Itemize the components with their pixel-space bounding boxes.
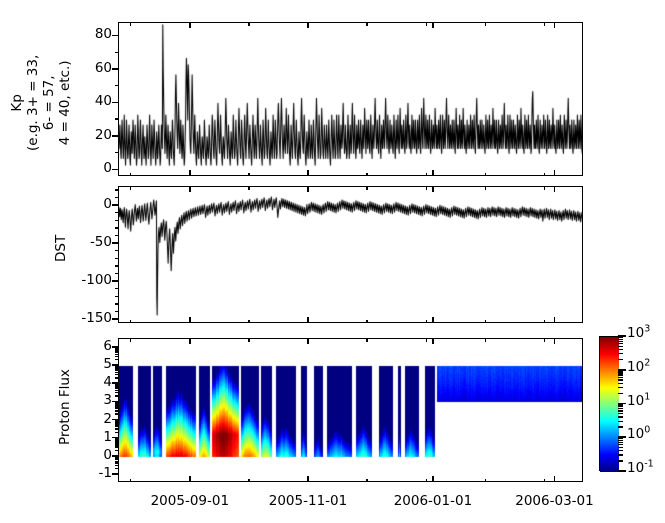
x-axis-minor-tick-mark	[426, 173, 427, 177]
proton-y-minor-tick-mark	[115, 392, 119, 393]
dst-y-minor-tick-mark	[115, 189, 119, 190]
x-axis-minor-tick-mark	[248, 479, 249, 483]
dst-y-minor-tick-mark	[115, 220, 119, 221]
proton-y-minor-tick-mark	[115, 465, 119, 466]
colorbar-minor-tick-mark	[618, 440, 623, 441]
proton-y-minor-tick-mark	[115, 446, 119, 447]
kp-y-tick-label: 40	[74, 95, 112, 109]
proton-y-minor-tick-mark	[115, 356, 119, 357]
proton-y-minor-tick-mark	[115, 428, 119, 429]
colorbar-minor-tick-mark	[618, 426, 623, 427]
colorbar-minor-tick-mark	[618, 416, 623, 417]
x-axis-minor-tick-mark	[248, 186, 249, 190]
colorbar-minor-tick-mark	[618, 410, 623, 411]
x-axis-tick-mark	[432, 317, 434, 323]
kp-y-tick-label: 0	[74, 162, 112, 176]
proton-y-minor-tick-mark	[115, 359, 119, 360]
colorbar-minor-tick-mark	[618, 404, 623, 405]
dst-y-minor-tick-mark	[115, 258, 119, 259]
x-axis-minor-tick-mark	[426, 479, 427, 483]
x-axis-tick-mark	[189, 186, 191, 192]
x-axis-tick-mark	[554, 317, 556, 323]
colorbar-gradient	[600, 337, 619, 472]
dst-y-minor-tick-mark	[115, 235, 119, 236]
dst-series-canvas	[119, 187, 583, 323]
kp-axis-title-text: Kp (e.g. 3+ = 33, 6- = 57, 4 = 40, etc.)	[10, 55, 74, 151]
x-axis-tick-mark	[307, 22, 309, 28]
proton-y-minor-tick-mark	[115, 420, 119, 421]
proton-y-minor-tick-mark	[115, 456, 119, 457]
colorbar-minor-tick-mark	[618, 339, 623, 340]
proton-y-minor-tick-mark	[115, 444, 119, 445]
x-axis-tick-mark	[432, 338, 434, 344]
proton-y-minor-tick-mark	[115, 372, 119, 373]
dst-y-minor-tick-mark	[115, 288, 119, 289]
x-axis-minor-tick-mark	[485, 338, 486, 342]
dst-panel	[118, 186, 583, 323]
x-axis-minor-tick-mark	[366, 338, 367, 342]
proton-y-tick-label: -1	[74, 467, 112, 481]
proton-y-minor-tick-mark	[115, 450, 119, 451]
x-axis-tick-mark	[432, 186, 434, 192]
x-axis-minor-tick-mark	[426, 22, 427, 26]
proton-y-minor-tick-mark	[115, 410, 119, 411]
x-axis-tick-mark	[307, 317, 309, 323]
dst-y-minor-tick-mark	[115, 197, 119, 198]
x-axis-tick-mark	[189, 338, 191, 344]
kp-y-tick-label: 20	[74, 129, 112, 143]
proton-y-minor-tick-mark	[115, 442, 119, 443]
proton-y-minor-tick-mark	[115, 461, 119, 462]
x-axis-minor-tick-mark	[130, 186, 131, 190]
x-axis-tick-mark	[432, 476, 434, 482]
dst-y-tick-label: -50	[74, 236, 112, 250]
colorbar-minor-tick-mark	[618, 442, 623, 443]
proton-y-minor-tick-mark	[115, 377, 119, 378]
x-axis-minor-tick-mark	[485, 186, 486, 190]
colorbar-minor-tick-mark	[618, 379, 623, 380]
colorbar-minor-tick-mark	[618, 343, 623, 344]
x-axis-minor-tick-mark	[544, 320, 545, 324]
x-axis-minor-tick-mark	[130, 320, 131, 324]
kp-y-minor-tick-mark	[115, 152, 119, 153]
proton-flux-heatmap-canvas	[119, 339, 583, 482]
proton-y-minor-tick-mark	[115, 388, 119, 389]
proton-y-minor-tick-mark	[115, 370, 119, 371]
proton-y-minor-tick-mark	[115, 459, 119, 460]
x-axis-tick-label: 2005-09-01	[151, 493, 229, 509]
colorbar-minor-tick-mark	[618, 438, 623, 439]
x-axis-tick-mark	[554, 476, 556, 482]
proton-y-minor-tick-mark	[115, 462, 119, 463]
x-axis-minor-tick-mark	[426, 186, 427, 190]
kp-y-tick-mark	[112, 169, 118, 171]
proton-y-tick-mark	[112, 473, 118, 475]
x-axis-minor-tick-mark	[544, 338, 545, 342]
dst-y-minor-tick-mark	[115, 273, 119, 274]
x-axis-minor-tick-mark	[130, 479, 131, 483]
proton-y-minor-tick-mark	[115, 390, 119, 391]
colorbar-minor-tick-mark	[618, 372, 623, 373]
dst-y-tick-label: 0	[74, 198, 112, 212]
colorbar-minor-tick-mark	[618, 450, 623, 451]
x-axis-tick-mark	[189, 22, 191, 28]
colorbar-tick-label: 101	[627, 395, 650, 409]
x-axis-minor-tick-mark	[248, 320, 249, 324]
dst-y-minor-tick-mark	[115, 296, 119, 297]
dst-y-tick-mark	[112, 242, 118, 244]
x-axis-minor-tick-mark	[544, 186, 545, 190]
colorbar-tick-label: 10-1	[627, 462, 654, 476]
proton-y-minor-tick-mark	[115, 405, 119, 406]
kp-y-tick-mark	[112, 68, 118, 70]
spaceweather-figure: 020406080 Kp (e.g. 3+ = 33, 6- = 57, 4 =…	[0, 0, 665, 523]
proton-y-minor-tick-mark	[115, 402, 119, 403]
kp-axis-title: Kp (e.g. 3+ = 33, 6- = 57, 4 = 40, etc.)	[0, 0, 15, 47]
x-axis-tick-mark	[307, 476, 309, 482]
colorbar-minor-tick-mark	[618, 454, 623, 455]
x-axis-minor-tick-mark	[485, 173, 486, 177]
dst-axis-title: DST	[54, 235, 70, 262]
proton-y-minor-tick-mark	[115, 374, 119, 375]
colorbar-minor-tick-mark	[618, 346, 623, 347]
colorbar-minor-tick-mark	[618, 413, 623, 414]
dst-y-tick-label: -150	[74, 312, 112, 326]
colorbar-tick-label: 103	[627, 327, 650, 341]
dst-y-minor-tick-mark	[115, 311, 119, 312]
colorbar-minor-tick-mark	[618, 337, 623, 338]
x-axis-minor-tick-mark	[366, 173, 367, 177]
dst-y-minor-tick-mark	[115, 250, 119, 251]
proton-flux-axis-title: Proton Flux	[58, 369, 74, 445]
kp-y-tick-label: 80	[74, 28, 112, 42]
x-axis-tick-mark	[554, 186, 556, 192]
proton-y-tick-label: 2	[74, 413, 112, 427]
colorbar-tick-mark	[618, 470, 626, 472]
x-axis-tick-label: 2006-01-01	[394, 493, 472, 509]
colorbar-minor-tick-mark	[618, 377, 623, 378]
x-axis-tick-label: 2006-03-01	[515, 493, 593, 509]
x-axis-minor-tick-mark	[544, 173, 545, 177]
dst-y-minor-tick-mark	[115, 303, 119, 304]
x-axis-tick-mark	[307, 186, 309, 192]
x-axis-tick-mark	[189, 170, 191, 176]
proton-y-minor-tick-mark	[115, 441, 119, 442]
x-axis-minor-tick-mark	[544, 479, 545, 483]
proton-y-tick-label: 6	[74, 340, 112, 354]
x-axis-tick-mark	[432, 22, 434, 28]
x-axis-tick-mark	[189, 317, 191, 323]
dst-y-minor-tick-mark	[115, 212, 119, 213]
proton-y-tick-label: 4	[74, 376, 112, 390]
x-axis-minor-tick-mark	[366, 22, 367, 26]
proton-y-tick-label: 5	[74, 358, 112, 372]
proton-y-minor-tick-mark	[115, 424, 119, 425]
colorbar-minor-tick-mark	[618, 447, 623, 448]
x-axis-tick-mark	[554, 22, 556, 28]
proton-y-minor-tick-mark	[115, 413, 119, 414]
kp-y-tick-label: 60	[74, 62, 112, 76]
proton-y-tick-label: 3	[74, 394, 112, 408]
proton-y-tick-label: 0	[74, 449, 112, 463]
x-axis-tick-mark	[432, 170, 434, 176]
x-axis-minor-tick-mark	[130, 22, 131, 26]
colorbar-minor-tick-mark	[618, 387, 623, 388]
colorbar-minor-tick-mark	[618, 374, 623, 375]
proton-y-minor-tick-mark	[115, 438, 119, 439]
kp-y-minor-tick-mark	[115, 118, 119, 119]
dst-y-tick-mark	[112, 318, 118, 320]
proton-y-minor-tick-mark	[115, 387, 119, 388]
x-axis-minor-tick-mark	[485, 479, 486, 483]
x-axis-minor-tick-mark	[248, 338, 249, 342]
kp-series-canvas	[119, 23, 583, 176]
proton-y-minor-tick-mark	[115, 468, 119, 469]
x-axis-tick-mark	[307, 338, 309, 344]
colorbar-minor-tick-mark	[618, 393, 623, 394]
x-axis-minor-tick-mark	[426, 320, 427, 324]
x-axis-minor-tick-mark	[366, 320, 367, 324]
colorbar-tick-label: 100	[627, 428, 650, 442]
dst-y-tick-mark	[112, 204, 118, 206]
proton-y-minor-tick-mark	[115, 423, 119, 424]
kp-y-minor-tick-mark	[115, 52, 119, 53]
x-axis-tick-mark	[554, 338, 556, 344]
x-axis-minor-tick-mark	[366, 186, 367, 190]
dst-y-tick-mark	[112, 280, 118, 282]
x-axis-minor-tick-mark	[130, 338, 131, 342]
x-axis-minor-tick-mark	[130, 173, 131, 177]
kp-panel	[118, 22, 583, 176]
x-axis-minor-tick-mark	[426, 338, 427, 342]
proton-y-minor-tick-mark	[115, 432, 119, 433]
proton-y-minor-tick-mark	[115, 406, 119, 407]
kp-y-tick-mark	[112, 135, 118, 137]
proton-y-minor-tick-mark	[115, 426, 119, 427]
proton-y-minor-tick-mark	[115, 408, 119, 409]
colorbar-minor-tick-mark	[618, 383, 623, 384]
colorbar-minor-tick-mark	[618, 371, 623, 372]
colorbar	[599, 336, 618, 471]
proton-y-minor-tick-mark	[115, 369, 119, 370]
proton-y-minor-tick-mark	[115, 365, 119, 366]
x-axis-tick-mark	[554, 170, 556, 176]
x-axis-tick-mark	[189, 476, 191, 482]
colorbar-minor-tick-mark	[618, 444, 623, 445]
colorbar-minor-tick-mark	[618, 359, 623, 360]
colorbar-minor-tick-mark	[618, 406, 623, 407]
proton-y-minor-tick-mark	[115, 350, 119, 351]
colorbar-minor-tick-mark	[618, 460, 623, 461]
x-axis-minor-tick-mark	[544, 22, 545, 26]
kp-y-tick-mark	[112, 35, 118, 37]
colorbar-minor-tick-mark	[618, 349, 623, 350]
x-axis-tick-label: 2005-11-01	[269, 493, 347, 509]
x-axis-minor-tick-mark	[366, 479, 367, 483]
colorbar-minor-tick-mark	[618, 408, 623, 409]
proton-y-minor-tick-mark	[115, 384, 119, 385]
colorbar-tick-label: 102	[627, 361, 650, 375]
proton-y-minor-tick-mark	[115, 395, 119, 396]
proton-y-minor-tick-mark	[115, 352, 119, 353]
x-axis-minor-tick-mark	[485, 22, 486, 26]
colorbar-minor-tick-mark	[618, 353, 623, 354]
x-axis-minor-tick-mark	[485, 320, 486, 324]
dst-y-minor-tick-mark	[115, 227, 119, 228]
proton-y-tick-label: 1	[74, 431, 112, 445]
proton-y-minor-tick-mark	[115, 347, 119, 348]
x-axis-minor-tick-mark	[248, 22, 249, 26]
colorbar-minor-tick-mark	[618, 421, 623, 422]
x-axis-tick-mark	[307, 170, 309, 176]
kp-y-tick-mark	[112, 102, 118, 104]
x-axis-minor-tick-mark	[248, 173, 249, 177]
dst-y-minor-tick-mark	[115, 265, 119, 266]
dst-y-tick-label: -100	[74, 274, 112, 288]
proton-flux-panel	[118, 338, 583, 482]
colorbar-minor-tick-mark	[618, 341, 623, 342]
proton-y-minor-tick-mark	[115, 354, 119, 355]
kp-y-minor-tick-mark	[115, 85, 119, 86]
